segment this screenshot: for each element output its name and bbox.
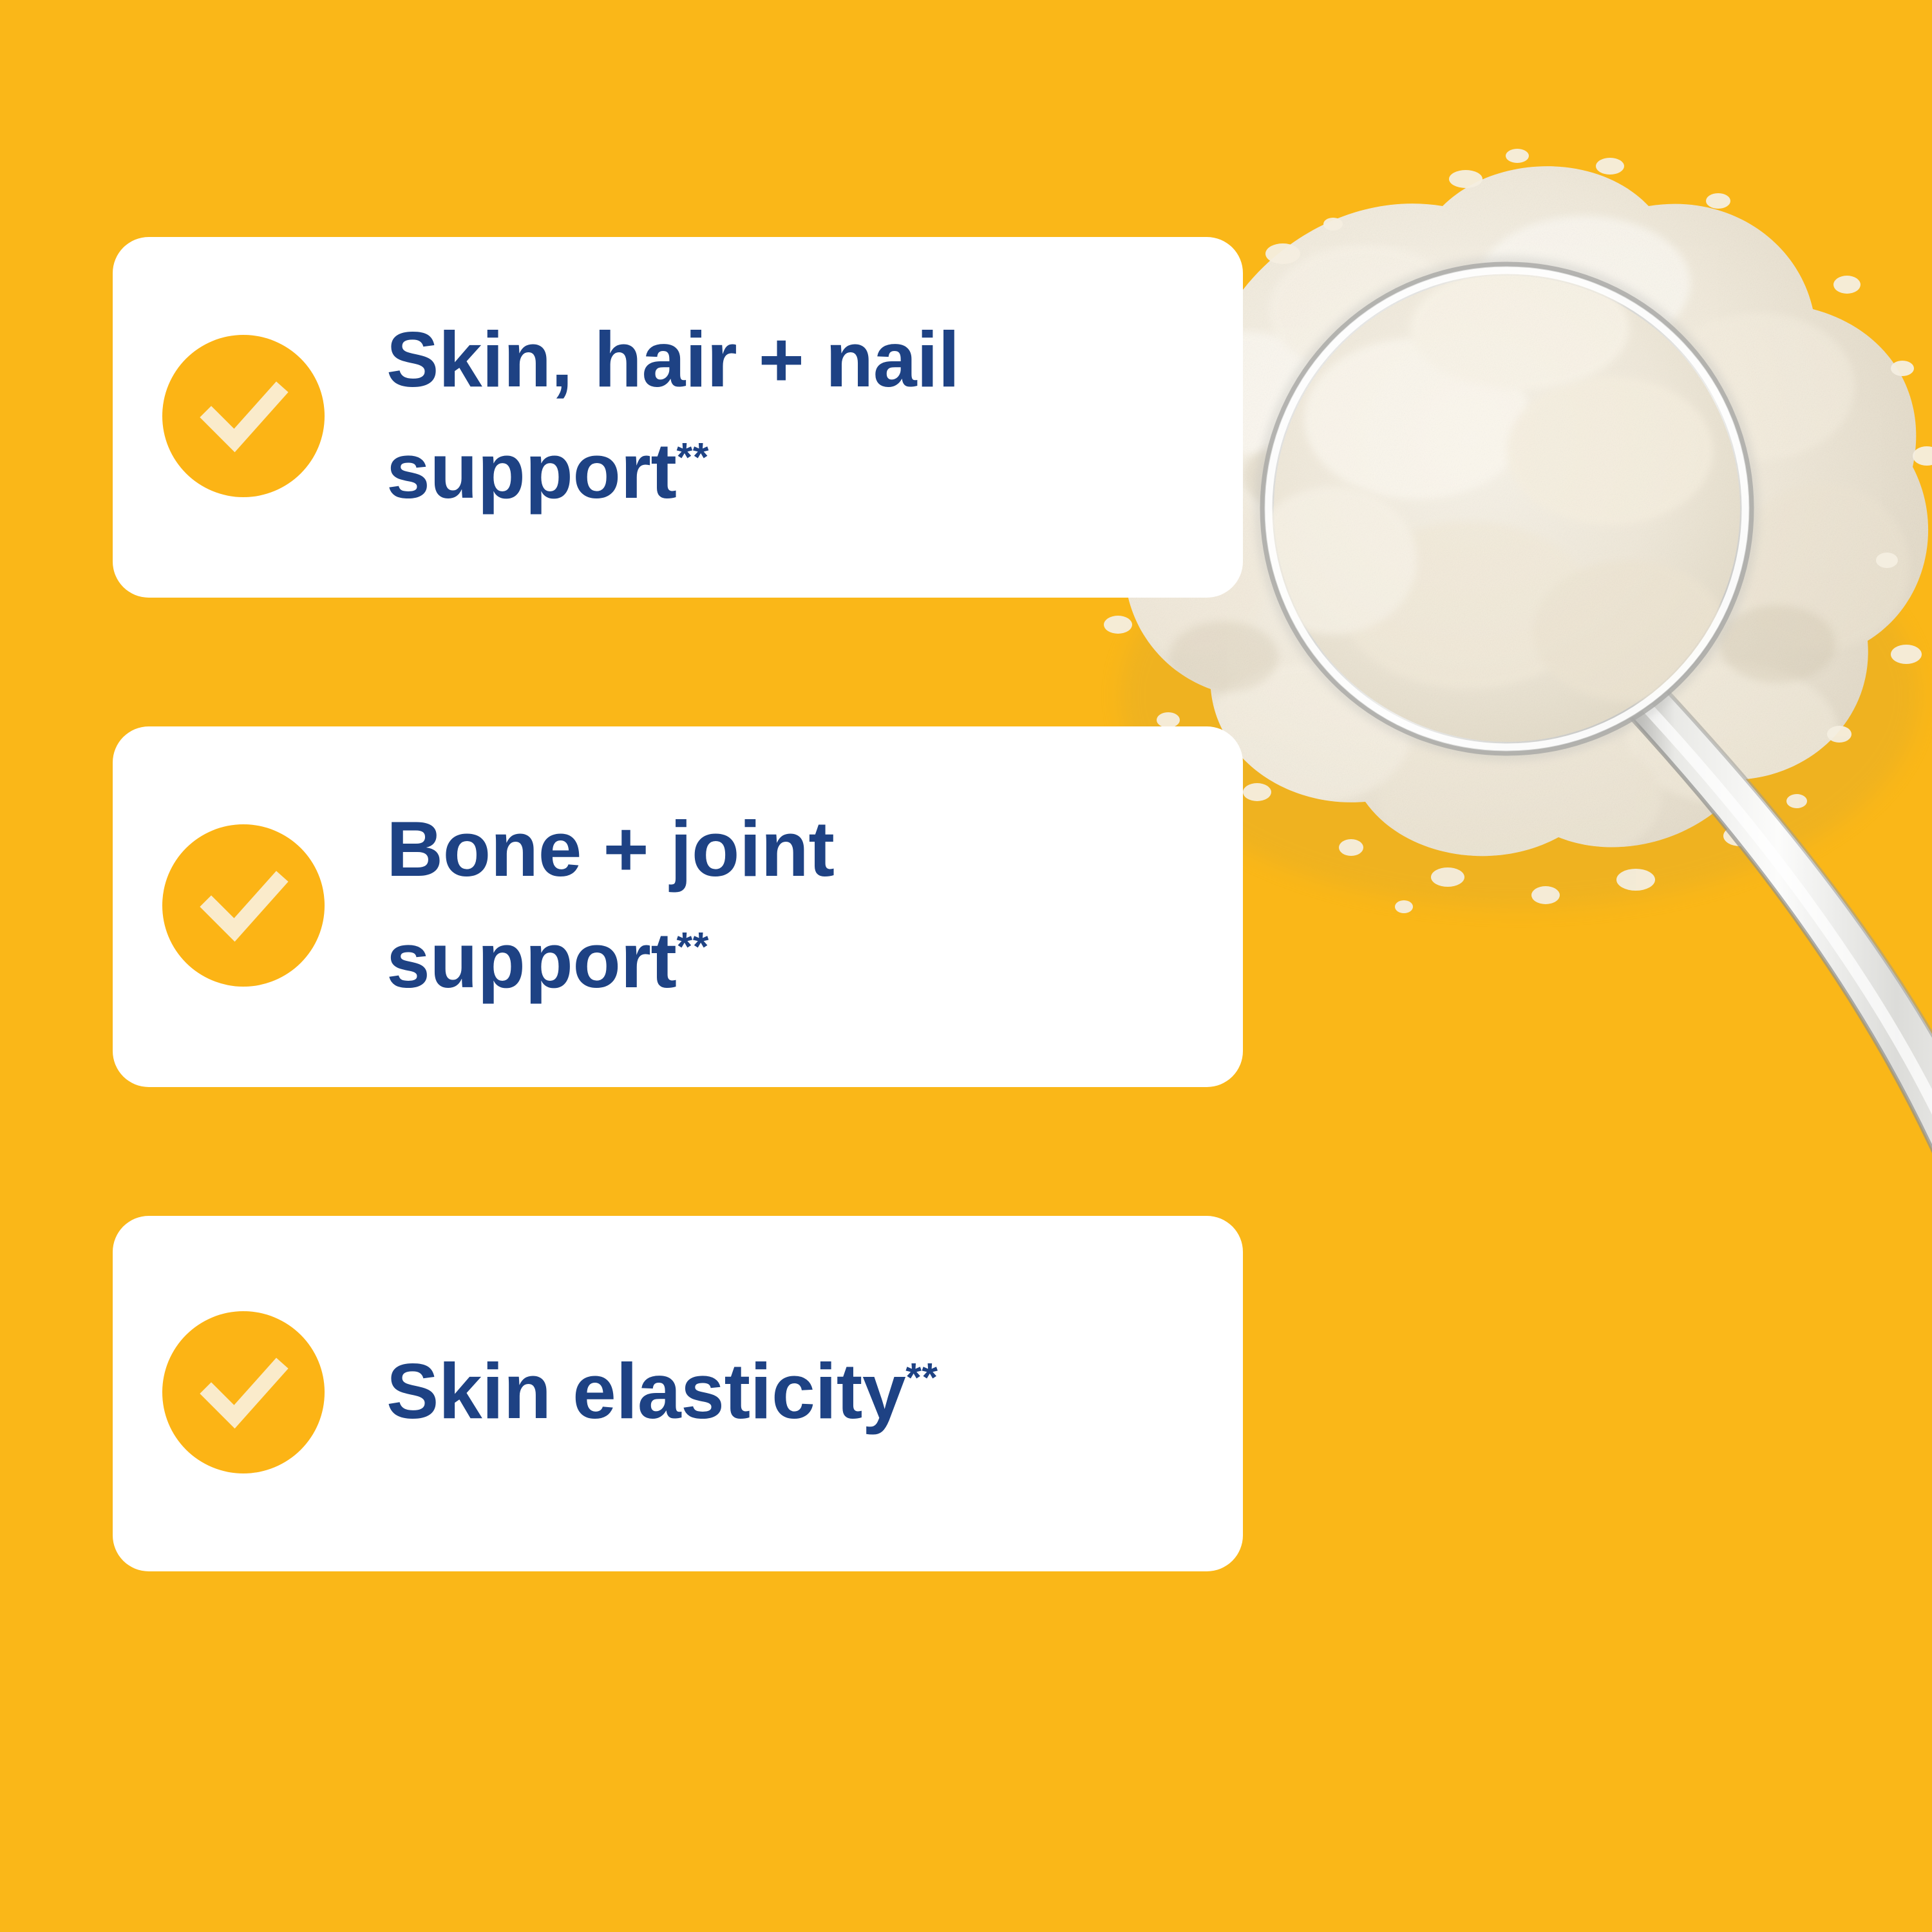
footnote-marker: **	[677, 925, 709, 970]
benefit-card-skin-elasticity: Skin elasticity**	[113, 1216, 1243, 1571]
footnote-marker: **	[677, 435, 709, 480]
benefit-line: Skin, hair + nail	[386, 304, 1198, 415]
check-icon	[162, 1311, 325, 1473]
check-icon	[162, 824, 325, 987]
check-icon	[162, 335, 325, 497]
benefit-card-skin-hair-nail: Skin, hair + nail support**	[113, 237, 1243, 598]
promo-canvas: TBS	[0, 0, 1932, 1932]
benefit-line: support**	[386, 905, 1198, 1016]
benefit-line: Bone + joint	[386, 793, 1198, 905]
benefit-card-bone-joint: Bone + joint support**	[113, 726, 1243, 1087]
footnote-marker: **	[905, 1355, 938, 1400]
benefit-label: Bone + joint support**	[386, 793, 1198, 1016]
benefit-line: support**	[386, 415, 1198, 527]
benefit-label: Skin elasticity**	[386, 1336, 1198, 1447]
benefit-label: Skin, hair + nail support**	[386, 304, 1198, 527]
benefit-line: Skin elasticity**	[386, 1336, 1198, 1447]
